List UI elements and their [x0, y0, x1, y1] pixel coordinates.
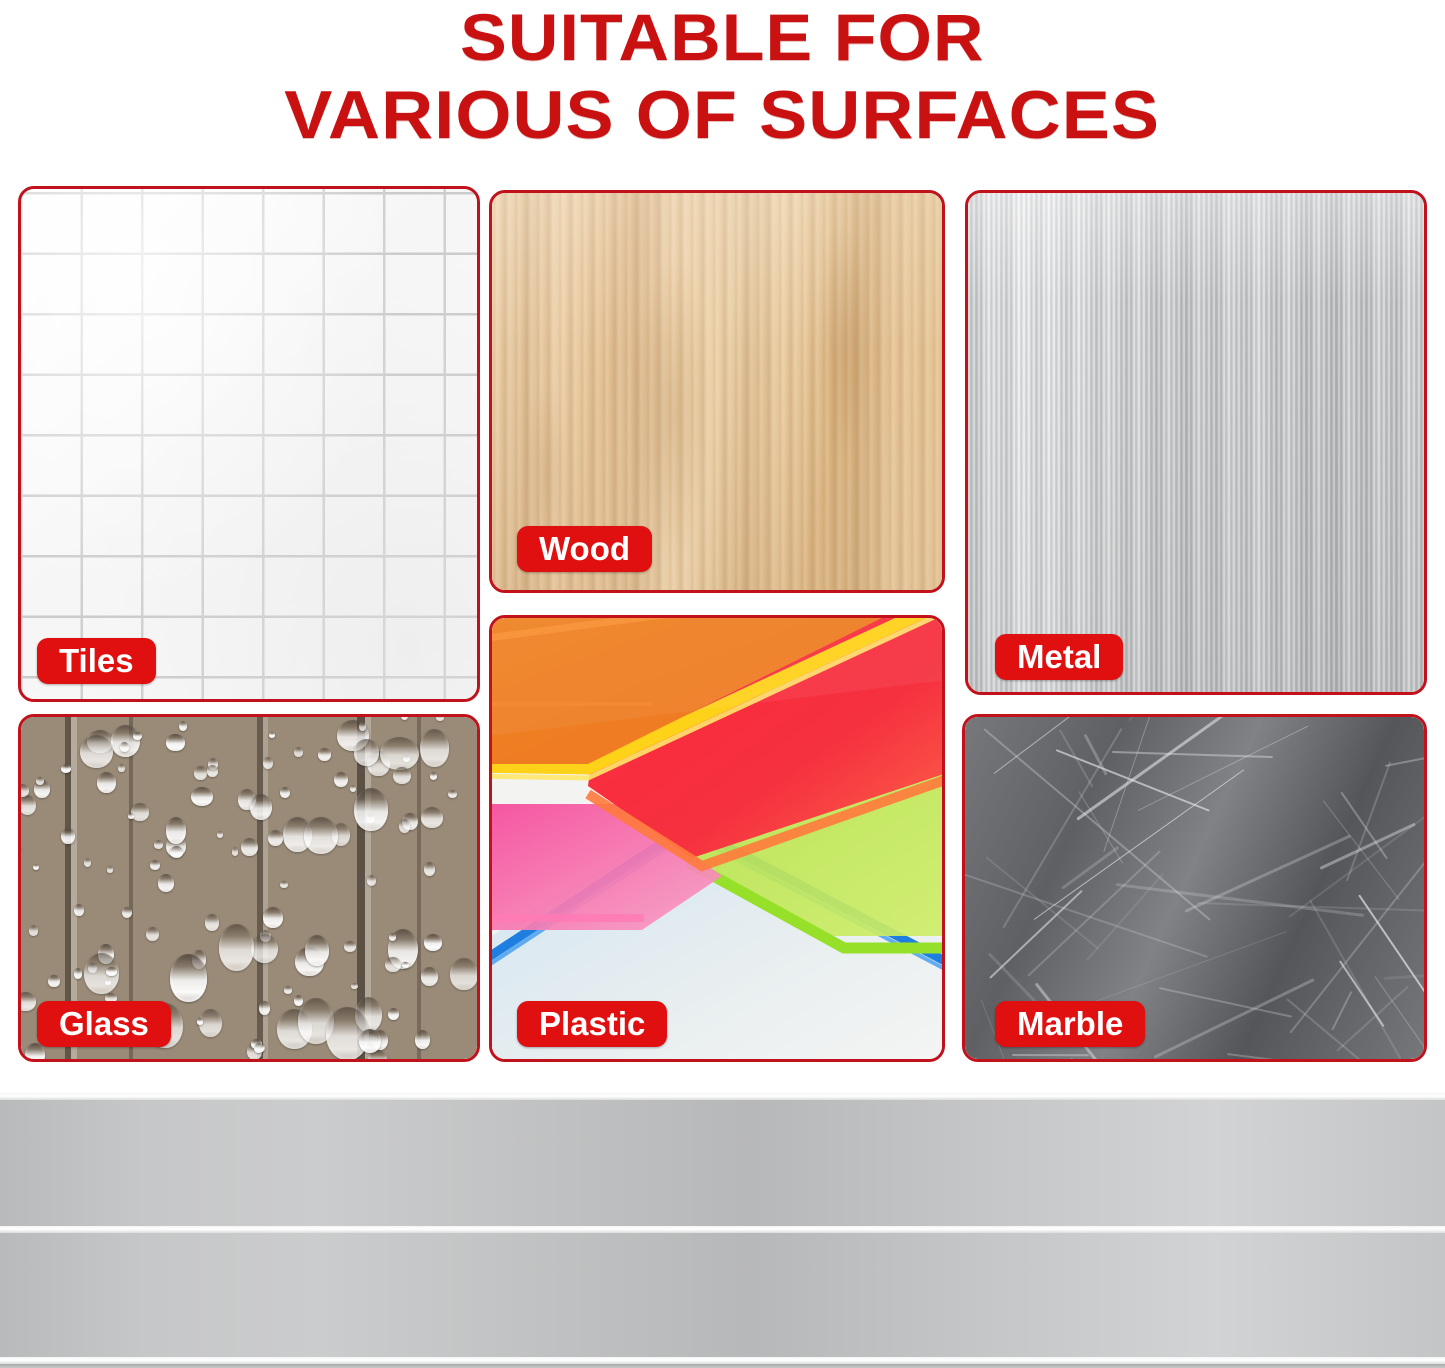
title-line-1: SUITABLE FOR [460, 0, 984, 76]
marble-vein [988, 952, 1039, 1005]
marble-vein [1323, 800, 1400, 900]
metal-texture [968, 193, 1424, 692]
water-droplet [133, 732, 142, 740]
water-droplet [80, 735, 113, 768]
water-droplet [294, 747, 302, 757]
title-line-2: VARIOUS OF SURFACES [285, 76, 1161, 154]
water-droplet [399, 819, 410, 832]
product-bar-divider-highlight [0, 1226, 1445, 1233]
water-droplet [241, 838, 258, 856]
water-droplet [280, 787, 290, 799]
water-droplet [268, 830, 283, 846]
water-droplet [154, 840, 163, 849]
marble-vein [1346, 762, 1392, 882]
surface-label-marble: Marble [995, 1001, 1145, 1047]
product-bar-segment-lower [0, 1233, 1445, 1359]
water-droplet [284, 986, 292, 993]
water-droplet [107, 866, 113, 873]
water-droplet [131, 803, 148, 820]
water-droplet [263, 907, 283, 928]
surface-label-wood: Wood [517, 526, 652, 572]
water-droplet [194, 766, 206, 780]
marble-vein [994, 717, 1079, 774]
surface-label-plastic: Plastic [517, 1001, 667, 1047]
marble-vein [1339, 961, 1384, 1027]
surface-label-glass: Glass [37, 1001, 171, 1047]
water-droplet [74, 904, 83, 916]
water-droplet [150, 860, 160, 870]
water-droplet [128, 813, 134, 819]
product-bar [0, 1093, 1445, 1367]
water-droplet [122, 907, 132, 918]
water-droplet [354, 739, 379, 766]
water-droplet [74, 968, 83, 978]
water-droplet [179, 721, 187, 731]
water-droplet [393, 767, 411, 784]
water-droplet [191, 787, 213, 806]
water-droplet [61, 764, 71, 773]
water-droplet [380, 737, 419, 770]
water-droplet [254, 1043, 264, 1054]
water-droplet [97, 772, 116, 793]
water-droplet [207, 765, 218, 777]
water-droplet [269, 732, 275, 738]
marble-vein [1061, 846, 1119, 889]
marble-vein [1374, 976, 1424, 1059]
water-droplet [166, 817, 186, 843]
marble-vein [1159, 987, 1293, 1018]
water-droplet [170, 846, 184, 858]
water-droplet [351, 983, 358, 990]
water-droplet [118, 764, 125, 773]
product-bar-segment-upper [0, 1100, 1445, 1228]
surface-label-metal: Metal [995, 634, 1123, 680]
water-droplet [318, 748, 331, 761]
page-title: SUITABLE FOR VARIOUS OF SURFACES [0, 0, 1445, 170]
water-droplet [250, 794, 272, 820]
water-droplet [415, 1030, 430, 1049]
water-droplet [354, 788, 388, 831]
water-droplet [424, 934, 442, 951]
water-droplet [450, 958, 477, 989]
water-droplet [197, 1018, 203, 1024]
water-droplet [36, 777, 44, 785]
water-droplet [305, 935, 330, 966]
water-droplet [385, 957, 401, 972]
water-droplet [430, 772, 437, 780]
water-droplet [84, 858, 91, 867]
surface-card-plastic [489, 615, 945, 1062]
water-droplet [166, 734, 185, 750]
marble-vein [1227, 1053, 1321, 1059]
water-droplet [170, 954, 208, 1002]
surface-label-tiles: Tiles [37, 638, 156, 684]
water-droplet [359, 722, 366, 731]
water-droplet [232, 847, 239, 856]
marble-vein [1027, 850, 1161, 977]
acrylic-sheets-illustration [492, 618, 942, 1059]
water-droplet [421, 967, 438, 985]
water-droplet [263, 757, 273, 769]
marble-vein [985, 856, 1098, 949]
water-droplet [219, 924, 254, 971]
marble-vein [1138, 725, 1309, 811]
water-droplet [29, 925, 39, 936]
water-droplet [146, 927, 159, 942]
water-droplet [294, 995, 303, 1006]
water-droplet [420, 729, 450, 767]
water-droplet [421, 807, 444, 828]
marble-vein [1012, 1054, 1089, 1057]
marble-vein [1331, 992, 1351, 1031]
water-droplet [424, 862, 435, 876]
product-bar-bottom-highlight [0, 1357, 1445, 1364]
water-droplet [259, 1001, 270, 1015]
product-bar-top-highlight [0, 1093, 1445, 1100]
product-bar-bottom-edge [0, 1364, 1445, 1368]
tiles-texture [21, 189, 477, 699]
plastic-texture [492, 618, 942, 1059]
water-droplet [388, 1008, 399, 1020]
water-droplet [48, 975, 59, 988]
water-droplet [304, 817, 338, 854]
marble-vein [1385, 725, 1424, 767]
marble-vein [1079, 931, 1287, 1008]
water-droplet [158, 874, 174, 892]
water-droplet [111, 725, 140, 758]
water-droplet [251, 934, 278, 963]
water-droplet [106, 967, 116, 977]
water-droplet [344, 941, 356, 952]
water-droplet [61, 828, 75, 845]
surface-card-metal [965, 190, 1427, 695]
surface-card-tiles [18, 186, 480, 702]
water-droplet [120, 742, 128, 752]
marble-vein [1384, 969, 1424, 979]
marble-vein [1289, 803, 1424, 1033]
water-droplet [205, 914, 218, 931]
water-droplet [389, 933, 396, 941]
